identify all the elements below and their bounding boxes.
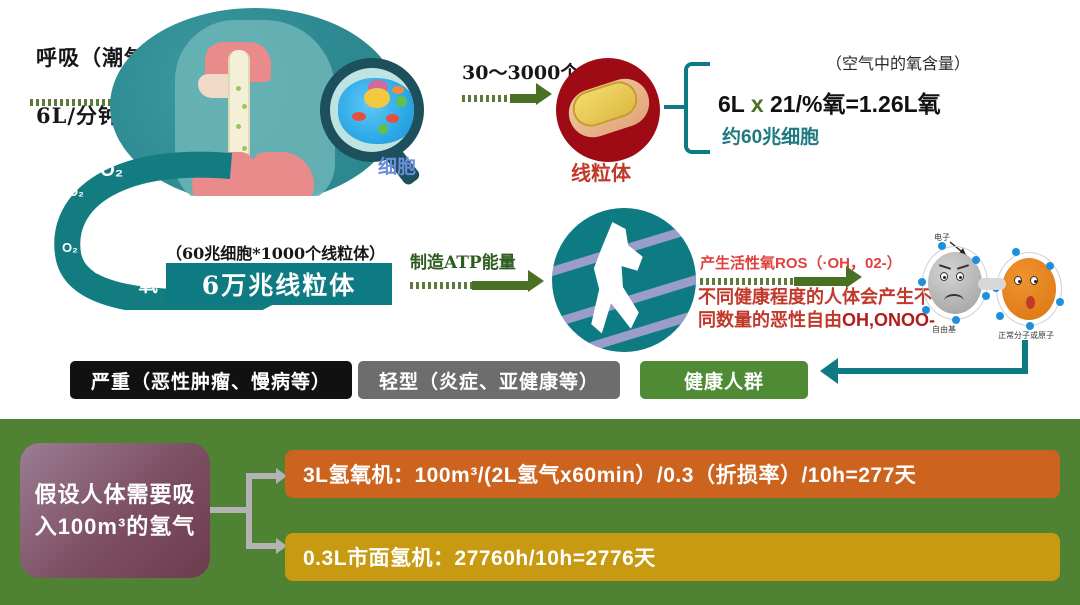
air-oxygen-note: （空气中的氧含量） [826, 50, 970, 74]
cell-organelle [352, 112, 366, 121]
molecule-mouth [1026, 296, 1035, 309]
electron-dot [1056, 298, 1064, 306]
formula-pre: 6L [718, 91, 751, 117]
molecule-eye [1030, 276, 1038, 285]
mitochondria-count-label: 30～3000个 [462, 58, 579, 85]
return-arrow [820, 340, 1040, 390]
radical-mouth [944, 294, 964, 301]
hydrogen-machine-3l-bar: 3L氢氧机：100m³/(2L氢气x60min）/0.3（折损率）/10h=27… [285, 450, 1060, 498]
atp-arrow [410, 275, 550, 297]
atp-label: 制造ATP能量 [410, 248, 516, 273]
bracket-stem [664, 105, 686, 109]
cell-organelle [378, 124, 388, 134]
oxygen-formula: 6L x 21/%氧=1.26L氧 [718, 85, 941, 119]
ros-label: 产生活性氧ROS（·OH，02-） [700, 252, 902, 273]
electron-dot [952, 316, 960, 324]
cell-organelle [392, 86, 404, 94]
mitochondria-arrow [462, 88, 554, 110]
o2-label-1: O₂ [100, 160, 123, 182]
assumption-box: 假设人体需要吸入100m³的氢气 [20, 443, 210, 578]
electron-dot [1046, 262, 1054, 270]
electron-dot [922, 306, 930, 314]
o2-label-2: O₂ [68, 184, 84, 199]
infographic-canvas: 呼吸（潮气量） 6L/分钟空气 细胞 30～3000个 线粒体 [0, 0, 1080, 605]
severity-severe-box: 严重（恶性肿瘤、慢病等） [70, 361, 352, 399]
radical-brow [957, 264, 969, 270]
mitochondria-total-note: （60兆细胞*1000个线粒体） [166, 240, 385, 264]
oxygen-char-label: 氧 [138, 268, 158, 297]
cell-organelle [386, 114, 399, 123]
molecule-diagram: 电子 自由基 正常分子或原子 [900, 226, 1076, 346]
electron-dot [972, 256, 980, 264]
electron-dot [996, 312, 1004, 320]
radical-eye [956, 272, 964, 281]
electron-dot [938, 242, 946, 250]
air-particle [236, 124, 241, 129]
mitochondria-total-box: 6万兆线粒体 [166, 263, 392, 305]
hydrogen-machine-03l-bar: 0.3L市面氢机：27760h/10h=2776天 [285, 533, 1060, 581]
total-cells-label: 约60兆细胞 [722, 122, 819, 149]
curly-bracket-icon [684, 62, 710, 154]
cell-label: 细胞 [378, 152, 416, 179]
electron-transfer-link [978, 278, 1006, 290]
cell-nucleus [364, 88, 390, 108]
formula-multiply: x [751, 91, 764, 117]
mitochondria-illustration [556, 58, 660, 162]
free-radical-caption: 自由基 [932, 324, 956, 335]
air-particle [236, 86, 241, 91]
magnifier-icon [320, 58, 424, 162]
runner-illustration [552, 208, 696, 352]
severity-mild-box: 轻型（炎症、亚健康等） [358, 361, 620, 399]
radical-line-2-pre: 同数量的恶性自由 [698, 310, 842, 330]
electron-dot [918, 278, 926, 286]
o2-label-3: O₂ [62, 240, 78, 255]
formula-post: 21/%氧=1.26L氧 [764, 91, 941, 117]
cell-organelle [396, 96, 407, 107]
o2-label-4: O₂ [92, 258, 115, 280]
branch-connector [210, 455, 288, 567]
radical-brow [939, 264, 951, 270]
electron-dot [1012, 248, 1020, 256]
air-particle [242, 104, 247, 109]
electron-dot [1026, 322, 1034, 330]
electron-dot [982, 292, 990, 300]
molecule-eye [1014, 276, 1022, 285]
mitochondria-label: 线粒体 [571, 157, 631, 186]
severity-healthy-box: 健康人群 [640, 361, 808, 399]
radical-eye [940, 272, 948, 281]
